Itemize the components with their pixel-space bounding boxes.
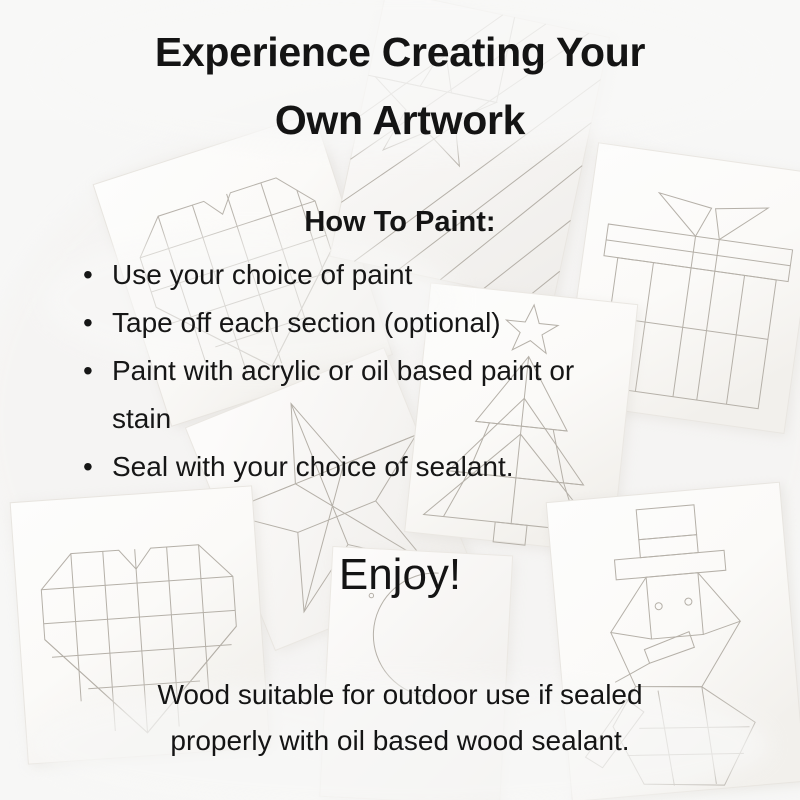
list-item: • Use your choice of paint	[78, 251, 758, 299]
text-overlay: Experience Creating Your Own Artwork How…	[0, 0, 800, 800]
how-to-paint-steps-list: • Use your choice of paint • Tape off ea…	[78, 251, 758, 491]
list-item-label: Tape off each section (optional)	[112, 307, 501, 338]
headline-line-1: Experience Creating Your	[0, 24, 800, 80]
list-item: • Seal with your choice of sealant.	[78, 443, 758, 491]
bullet-icon: •	[83, 299, 93, 347]
list-item-label: Paint with acrylic or oil based paint or	[112, 355, 574, 386]
bullet-icon: •	[83, 347, 93, 395]
list-item-label: Use your choice of paint	[112, 259, 412, 290]
footer-line-2: properly with oil based wood sealant.	[0, 719, 800, 763]
headline-line-2: Own Artwork	[0, 92, 800, 148]
bullet-icon: •	[83, 251, 93, 299]
how-to-paint-subheading: How To Paint:	[0, 203, 800, 241]
enjoy-text: Enjoy!	[0, 547, 800, 603]
footer-line-1: Wood suitable for outdoor use if sealed	[0, 673, 800, 717]
infographic-canvas: Experience Creating Your Own Artwork How…	[0, 0, 800, 800]
list-item-continuation: stain	[78, 395, 758, 443]
bullet-icon: •	[83, 443, 93, 491]
list-item: • Paint with acrylic or oil based paint …	[78, 347, 758, 395]
list-item-label: stain	[112, 403, 171, 434]
list-item: • Tape off each section (optional)	[78, 299, 758, 347]
list-item-label: Seal with your choice of sealant.	[112, 451, 514, 482]
